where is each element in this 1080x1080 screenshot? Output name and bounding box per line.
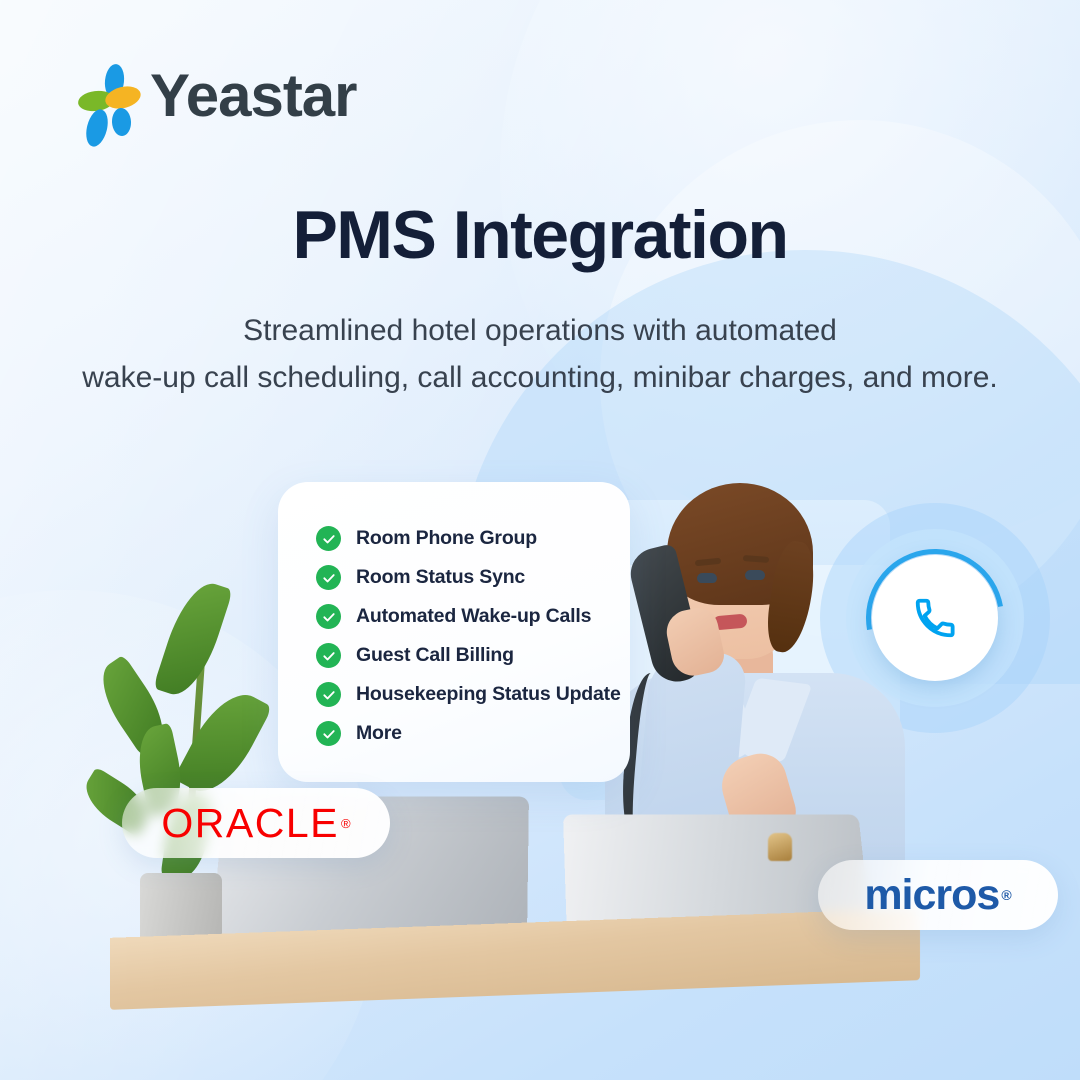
partner-badge-micros: micros ® [818,860,1058,930]
micros-wordmark: micros [864,871,999,920]
list-item: Room Status Sync [316,565,630,590]
list-item: Guest Call Billing [316,643,630,668]
check-circle-icon [316,682,341,707]
feature-label: Automated Wake-up Calls [356,605,591,628]
list-item: Room Phone Group [316,526,630,551]
check-circle-icon [316,721,341,746]
plant-leaf [173,682,272,804]
check-circle-icon [316,526,341,551]
feature-label: Room Status Sync [356,566,525,589]
registered-mark: ® [1001,887,1011,903]
oracle-wordmark: ORACLE [161,800,339,847]
yeastar-pinwheel-icon [78,64,136,128]
page-subtitle: Streamlined hotel operations with automa… [0,308,1080,401]
hero-scene: Room Phone Group Room Status Sync Automa… [0,455,1080,1015]
feature-card: Room Phone Group Room Status Sync Automa… [278,482,630,782]
feature-label: More [356,722,402,745]
eye-left [697,573,717,583]
brand-name: Yeastar [150,66,357,126]
phone-handset-icon [912,595,958,641]
feature-label: Housekeeping Status Update [356,683,621,706]
feature-label: Room Phone Group [356,527,537,550]
list-item: Housekeeping Status Update [316,682,630,707]
poster-canvas: Yeastar PMS Integration Streamlined hote… [0,0,1080,1080]
eye-right [745,570,765,580]
subtitle-line-1: Streamlined hotel operations with automa… [0,308,1080,355]
check-circle-icon [316,604,341,629]
partner-badge-oracle: ORACLE ® [122,788,390,858]
registered-mark: ® [341,816,351,831]
feature-label: Guest Call Billing [356,644,514,667]
check-circle-icon [316,643,341,668]
list-item: Automated Wake-up Calls [316,604,630,629]
list-item: More [316,721,630,746]
plant-leaf [153,576,233,702]
brand-logo: Yeastar [78,64,357,128]
page-title: PMS Integration [0,196,1080,274]
subtitle-line-2: wake-up call scheduling, call accounting… [0,355,1080,402]
check-circle-icon [316,565,341,590]
